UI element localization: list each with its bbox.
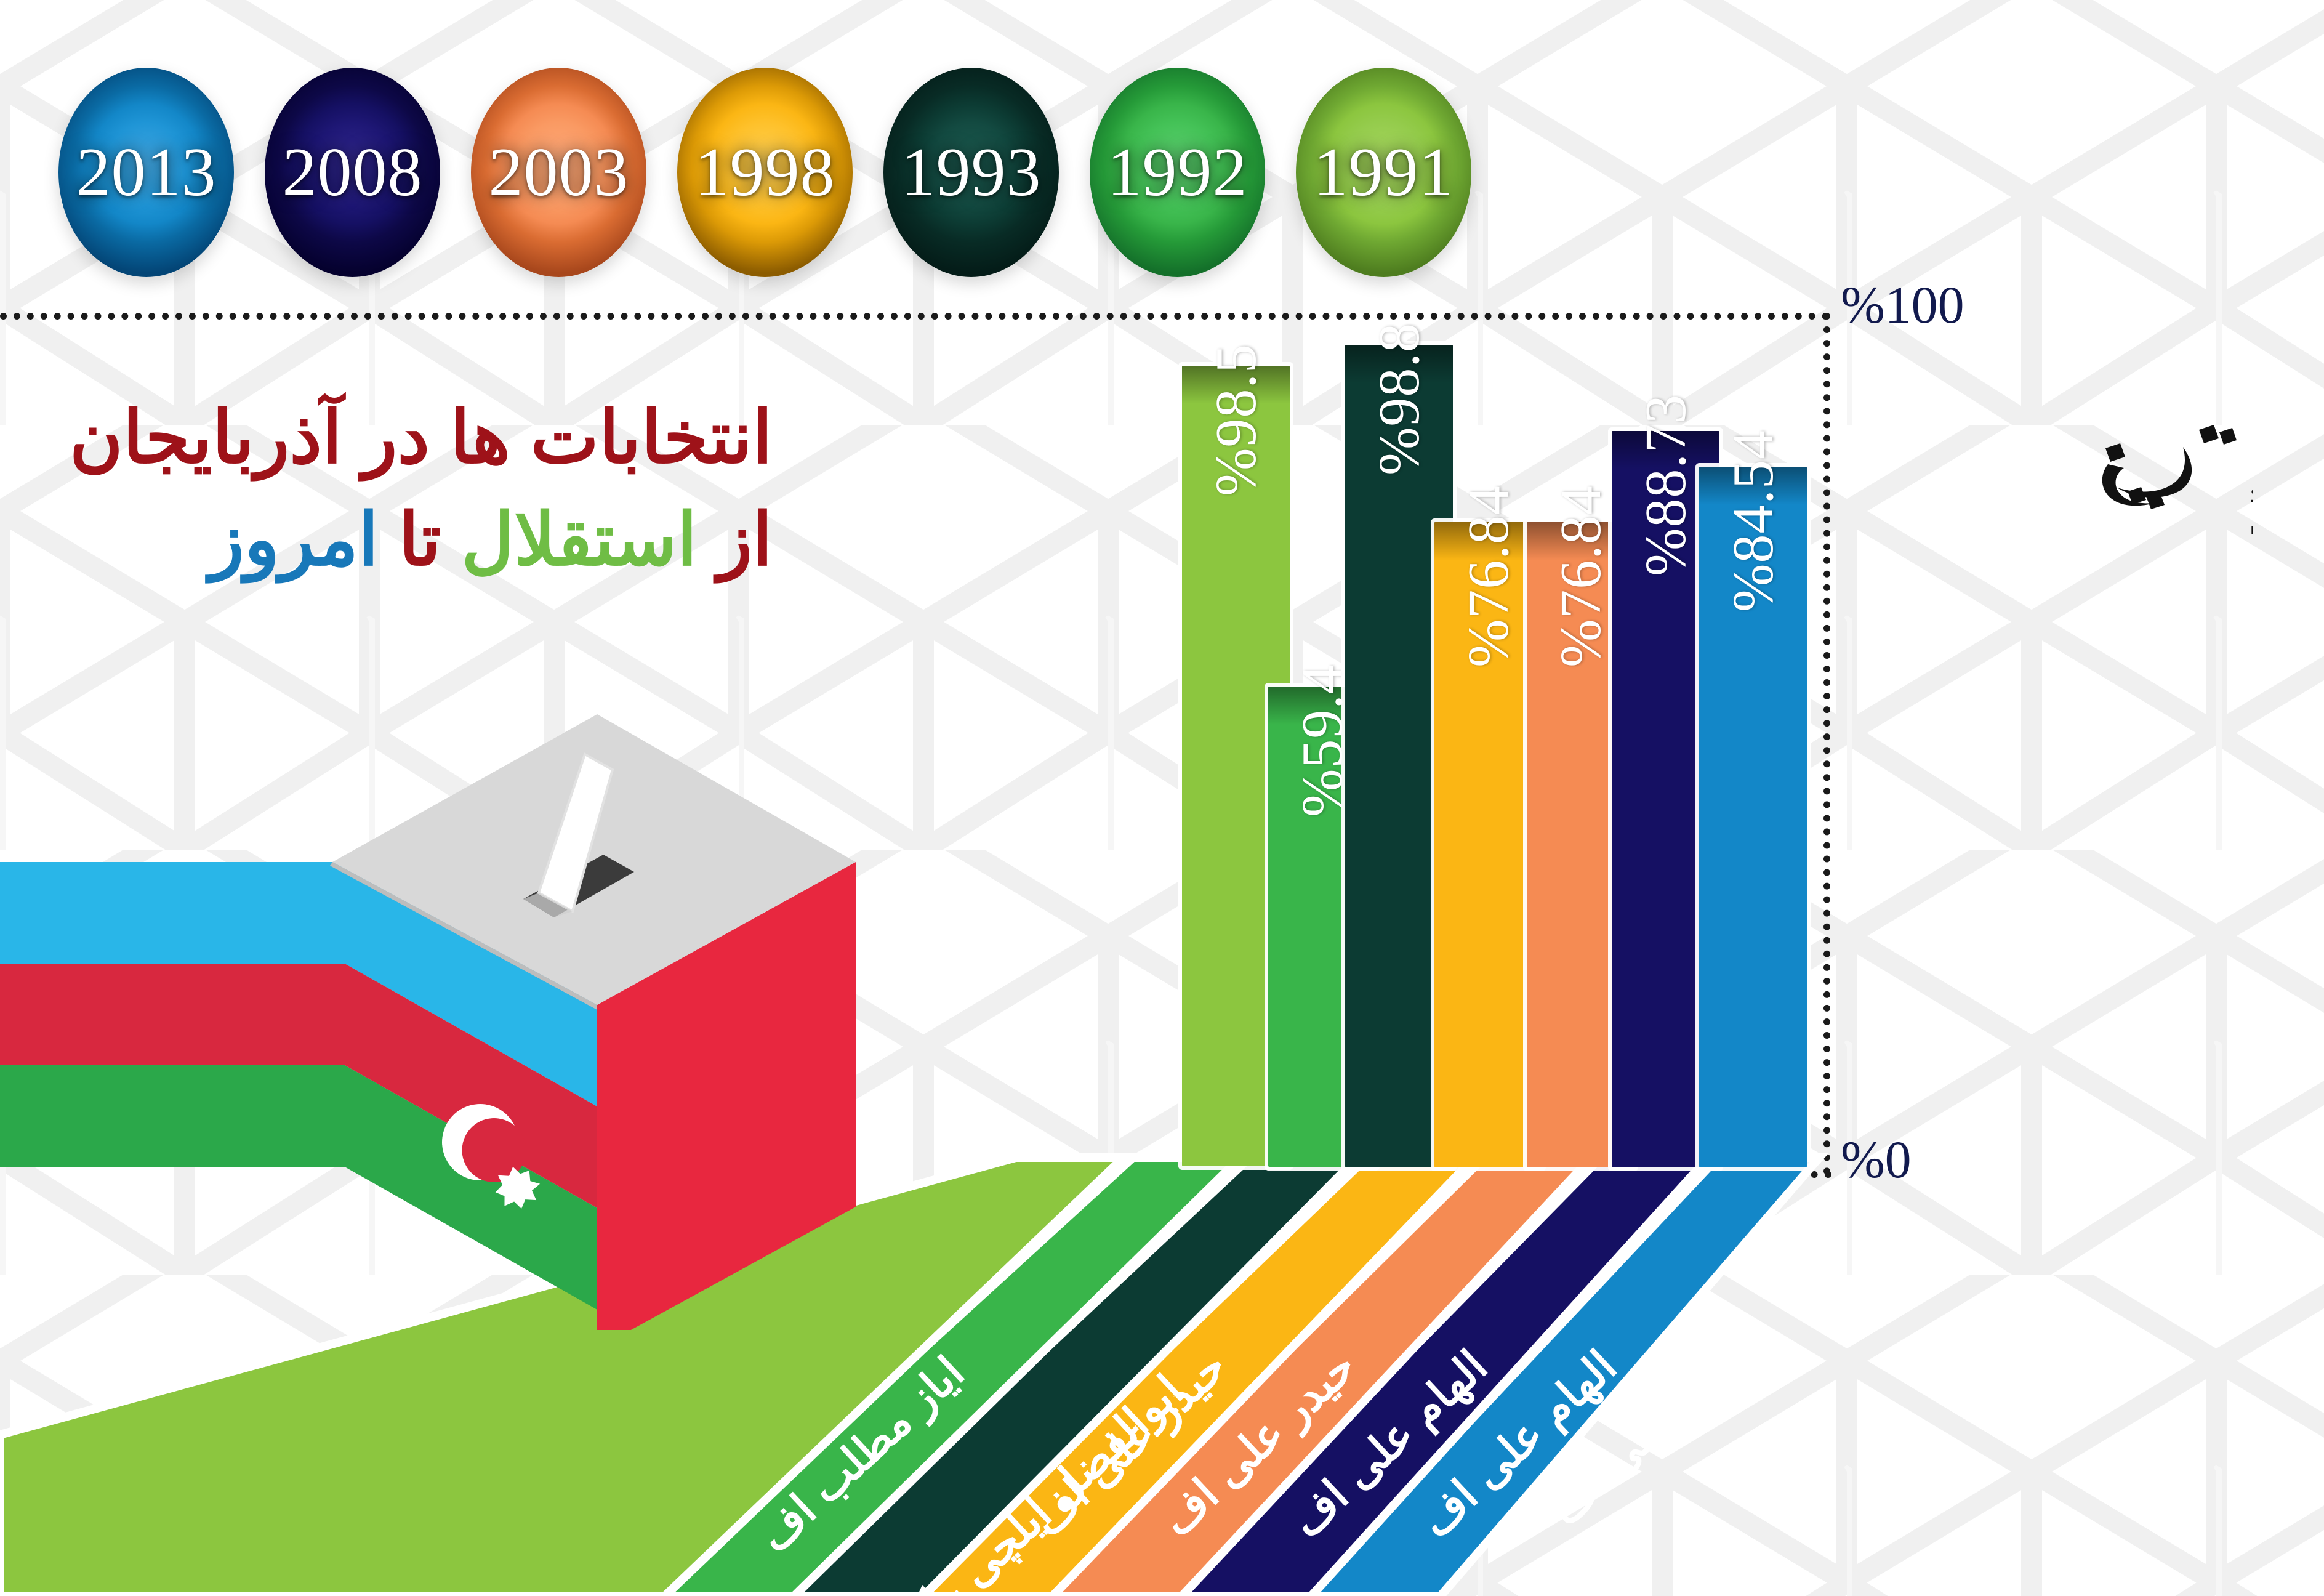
year-badge-1993[interactable]: 1993 [883,68,1059,277]
year-badge-label: 1991 [1314,138,1454,207]
bar-2013[interactable]: %84.54 [1699,467,1807,1167]
year-badge-1991[interactable]: 1991 [1296,68,1471,277]
headline-word-independence: استقلال [461,499,697,581]
year-badge-label: 2008 [283,138,423,207]
year-badge-2013[interactable]: 2013 [58,68,234,277]
bar-value-label: %84.54 [1720,430,1787,612]
year-badge-label: 1998 [695,138,835,207]
bar-value-label: %98.5 [1203,344,1269,496]
headline-line-1: انتخابات ها در آذربایجان [0,394,773,483]
bar-value-label: %76.84 [1455,485,1522,667]
ballot-box-illustration [0,714,979,1330]
headline-word-to: تا [399,499,441,581]
year-badge-2008[interactable]: 2008 [265,68,440,277]
headline-word-today: امروز [209,499,379,581]
year-badge-label: 1992 [1108,138,1248,207]
bar-value-label: %88.73 [1633,394,1699,576]
tasnim-logo: خبرگزاری Tasnim News Agency [2069,419,2253,560]
headline-line-2: از استقلال تا امروز [0,496,773,585]
year-badge-label: 1993 [901,138,1042,207]
year-badge-label: 2003 [489,138,629,207]
bar-1998[interactable]: %76.84 [1434,522,1542,1167]
logo-agency-fa: خبرگزاری [2251,480,2253,496]
year-badge-2003[interactable]: 2003 [471,68,646,277]
infographic-canvas: 1991 1992 1993 1998 2003 2008 2013 %100 … [0,0,2324,1596]
bar-value-label: %98.8 [1366,323,1433,475]
headline-word-from: از [717,499,773,581]
year-badge-1998[interactable]: 1998 [677,68,853,277]
year-badge-label: 2013 [76,138,217,207]
logo-agency-en: Tasnim [2251,496,2253,522]
year-badge-row: 1991 1992 1993 1998 2003 2008 2013 [58,68,1471,277]
tasnim-calligraphy-icon [2102,425,2237,509]
bar-value-label: %76.84 [1548,485,1614,667]
page-title: انتخابات ها در آذربایجان از استقلال تا ا… [0,394,773,585]
logo-agency-sub: News Agency [2251,524,2253,538]
year-badge-1992[interactable]: 1992 [1090,68,1265,277]
